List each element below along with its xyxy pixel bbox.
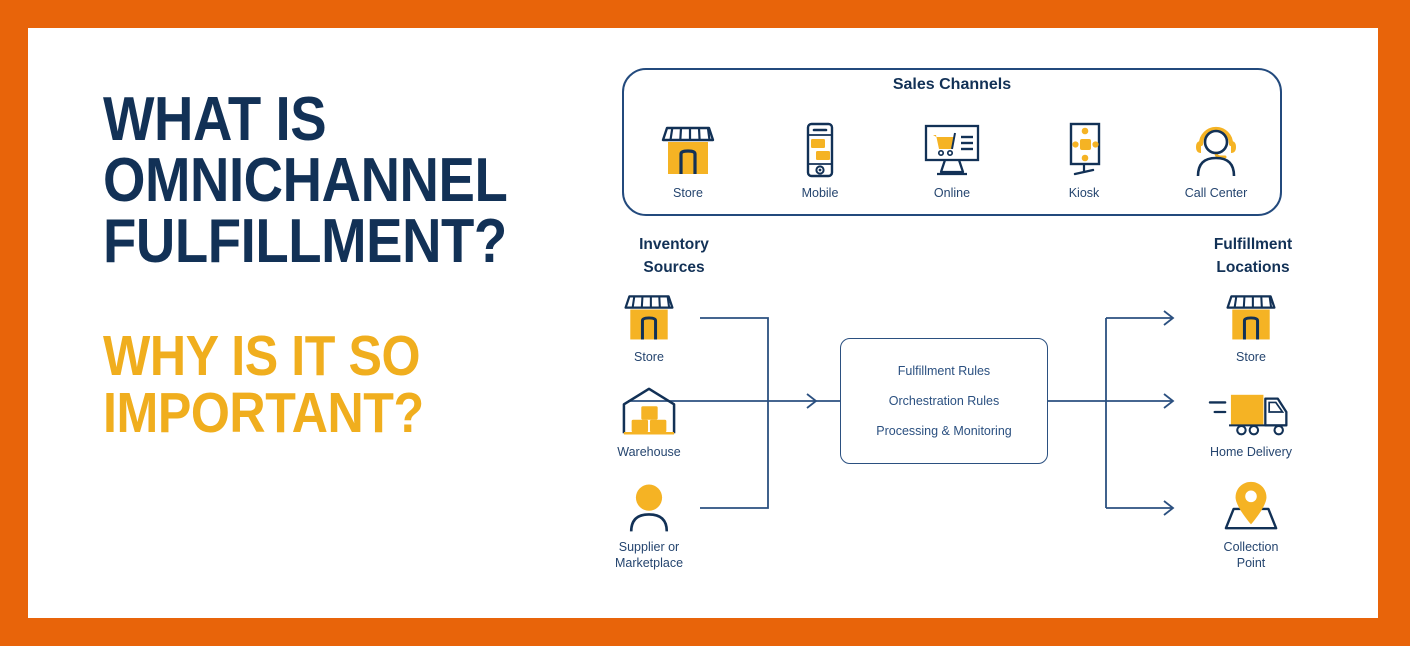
node-label: Warehouse (574, 445, 724, 461)
node-label-line-1: Supplier or (574, 540, 724, 556)
inventory-node-supplier[interactable]: Supplier or Marketplace (574, 476, 724, 571)
node-label: Collection Point (1176, 540, 1326, 571)
node-label-line-2: Point (1176, 556, 1326, 572)
fulfillment-node-store[interactable]: Store (1176, 286, 1326, 366)
node-label: Store (1176, 350, 1326, 366)
fulfillment-locations-title: Fulfillment Locations (1148, 233, 1358, 280)
channel-item-call-center[interactable]: Call Center (1157, 116, 1275, 200)
inventory-sources-title: Inventory Sources (584, 233, 764, 280)
map-pin-icon (1176, 476, 1326, 534)
sales-channels-title: Sales Channels (622, 76, 1282, 94)
rules-line-fulfillment: Fulfillment Rules (898, 364, 990, 378)
channel-label: Kiosk (1025, 186, 1143, 200)
channel-label: Mobile (761, 186, 879, 200)
desktop-cart-icon (893, 116, 1011, 178)
delivery-truck-icon (1176, 381, 1326, 439)
channel-item-online[interactable]: Online (893, 116, 1011, 200)
sales-channels-row: Store Mobile (622, 116, 1282, 200)
fulfillment-node-home-delivery[interactable]: Home Delivery (1176, 381, 1326, 461)
storefront-icon (629, 116, 747, 178)
node-label: Home Delivery (1176, 445, 1326, 461)
inventory-sources-title-line-1: Inventory (584, 233, 764, 256)
inventory-node-warehouse[interactable]: Warehouse (574, 381, 724, 461)
rules-line-processing: Processing & Monitoring (876, 424, 1011, 438)
fulfillment-locations-title-line-1: Fulfillment (1148, 233, 1358, 256)
channel-item-kiosk[interactable]: Kiosk (1025, 116, 1143, 200)
person-icon (574, 476, 724, 534)
fulfillment-node-collection-point[interactable]: Collection Point (1176, 476, 1326, 571)
storefront-icon (1176, 286, 1326, 344)
channel-item-store[interactable]: Store (629, 116, 747, 200)
channel-label: Call Center (1157, 186, 1275, 200)
node-label: Store (574, 350, 724, 366)
channel-item-mobile[interactable]: Mobile (761, 116, 879, 200)
inventory-node-store[interactable]: Store (574, 286, 724, 366)
warehouse-boxes-icon (574, 381, 724, 439)
omnichannel-diagram: Sales Channels Store (28, 28, 1378, 618)
rules-line-orchestration: Orchestration Rules (889, 394, 999, 408)
mobile-phone-icon (761, 116, 879, 178)
inventory-sources-title-line-2: Sources (584, 256, 764, 279)
node-label-line-2: Marketplace (574, 556, 724, 572)
slide-canvas: WHAT IS OMNICHANNEL FULFILLMENT? WHY IS … (28, 28, 1378, 618)
storefront-icon (574, 286, 724, 344)
headset-person-icon (1157, 116, 1275, 178)
node-label: Supplier or Marketplace (574, 540, 724, 571)
rules-engine-box: Fulfillment Rules Orchestration Rules Pr… (840, 338, 1048, 464)
channel-label: Store (629, 186, 747, 200)
fulfillment-locations-title-line-2: Locations (1148, 256, 1358, 279)
node-label-line-1: Collection (1176, 540, 1326, 556)
channel-label: Online (893, 186, 1011, 200)
kiosk-screen-icon (1025, 116, 1143, 178)
